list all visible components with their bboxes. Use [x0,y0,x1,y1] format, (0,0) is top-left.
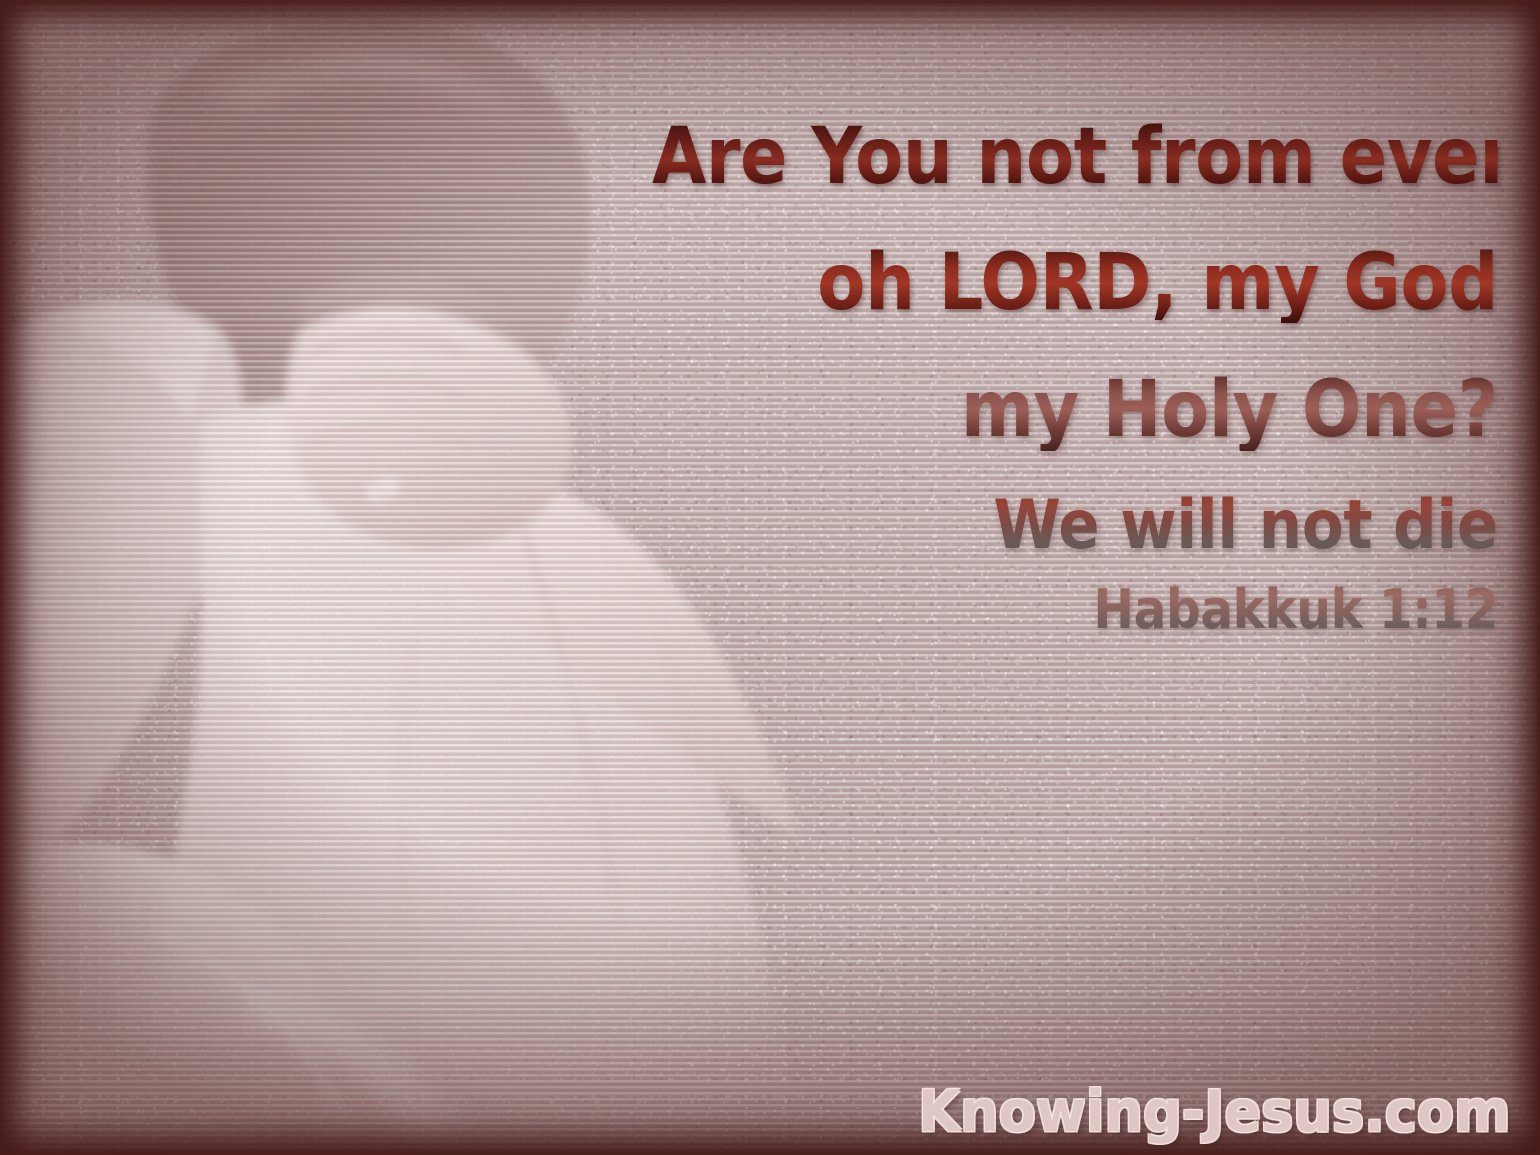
verse-line-4: We will not die [652,491,1498,560]
verse-line-3: my Holy One? [652,371,1498,451]
site-watermark: Knowing-Jesus.com [918,1079,1510,1145]
verse-text-block: Are You not from everlasting oh LORD, my… [558,118,1498,637]
verse-reference: Habakkuk 1:12 [652,582,1498,637]
scripture-image-canvas: Are You not from everlasting oh LORD, my… [0,0,1540,1155]
verse-line-2: oh LORD, my God [652,244,1498,324]
verse-line-1: Are You not from everlasting [652,118,1498,198]
